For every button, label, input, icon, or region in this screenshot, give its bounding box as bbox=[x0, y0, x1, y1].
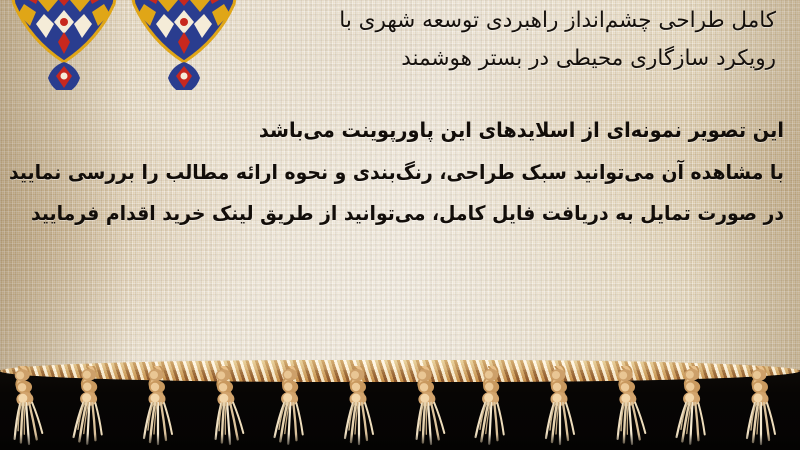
slide-title: کامل طراحی چشم‌انداز راهبردی توسعه شهری … bbox=[196, 2, 776, 78]
slide-canvas: کامل طراحی چشم‌انداز راهبردی توسعه شهری … bbox=[0, 0, 800, 450]
fringe-bottom-fade bbox=[0, 434, 800, 450]
slide-body: این تصویر نمونه‌ای از اسلایدهای این پاور… bbox=[14, 108, 784, 234]
body-line-1: این تصویر نمونه‌ای از اسلایدهای این پاور… bbox=[60, 108, 784, 152]
carpet-medallion-icon bbox=[6, 0, 122, 90]
title-line-1: کامل طراحی چشم‌انداز راهبردی توسعه شهری … bbox=[196, 2, 776, 40]
title-line-2: رویکرد سازگاری محیطی در بستر هوشمند bbox=[196, 40, 776, 78]
carpet-fringe bbox=[0, 352, 800, 450]
body-line-3: در صورت تمایل به دریافت فایل کامل، می‌تو… bbox=[60, 193, 784, 234]
body-line-2: با مشاهده آن می‌توانید سبک طراحی، رنگ‌بن… bbox=[60, 152, 784, 193]
